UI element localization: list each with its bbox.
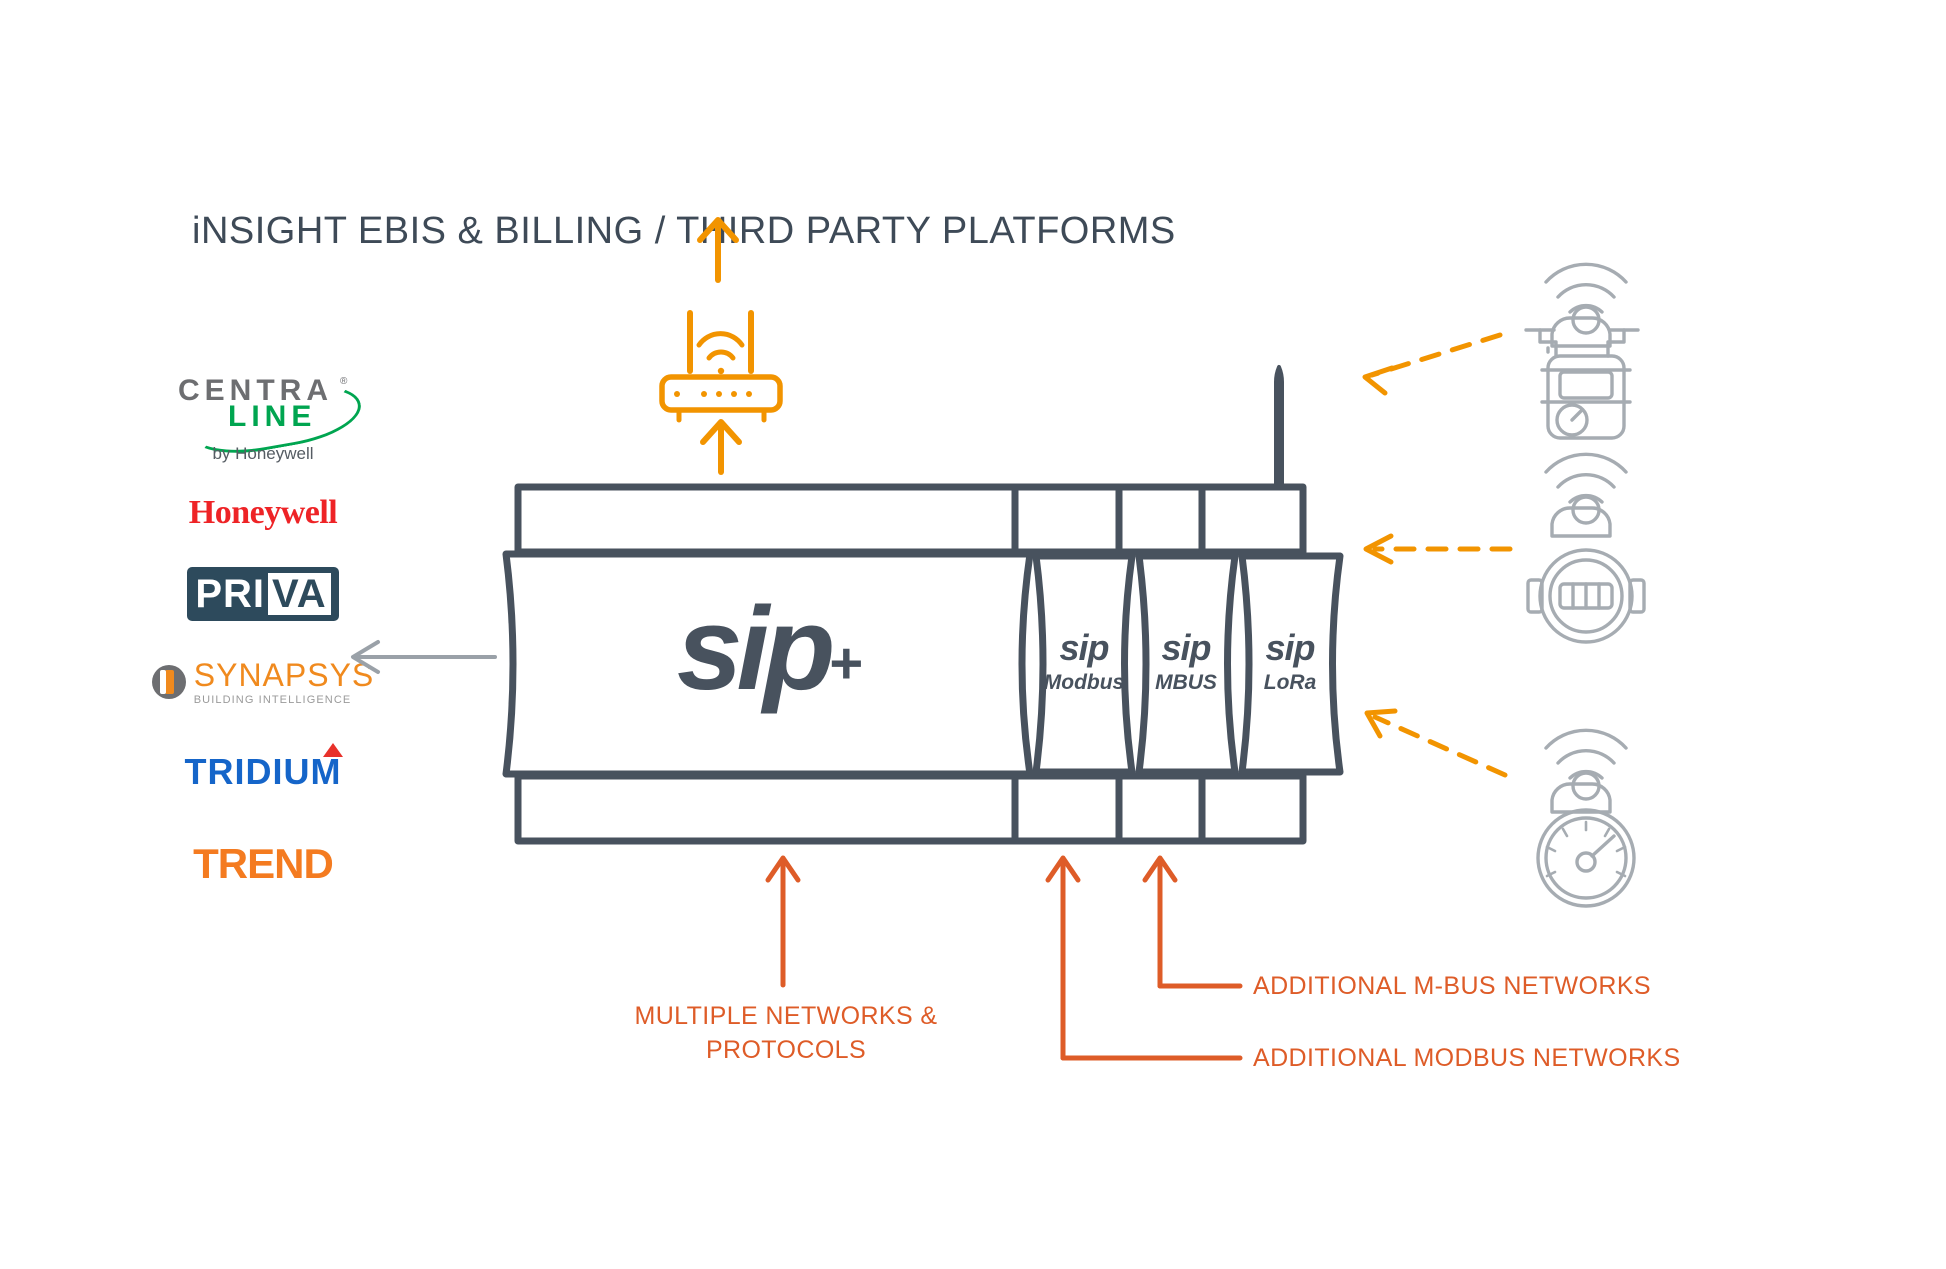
- sip-plus-logo-suffix: +: [829, 631, 863, 696]
- module-modbus-brand: sip: [1032, 630, 1136, 666]
- annotation-additional-mbus: ADDITIONAL M-BUS NETWORKS: [1253, 972, 1651, 1001]
- module-mbus-protocol: MBUS: [1136, 672, 1236, 693]
- annotation-multiple-networks-line2: PROTOCOLS: [596, 1034, 976, 1068]
- annotation-multiple-networks: MULTIPLE NETWORKS & PROTOCOLS: [596, 1000, 976, 1068]
- sip-plus-logo: sip+: [600, 590, 940, 708]
- module-modbus-protocol: Modbus: [1032, 672, 1136, 693]
- module-label-modbus: sip Modbus: [1032, 630, 1136, 693]
- mbus-networks-arrow: [1145, 858, 1240, 986]
- device-bottom-rail: [518, 776, 1303, 841]
- device-top-rail: [518, 487, 1303, 552]
- platforms-arrow: [353, 642, 495, 672]
- wireless-signal-icon: [1546, 264, 1626, 312]
- meter-link-top-head: [1365, 368, 1392, 393]
- sip-plus-logo-text: sip: [677, 583, 830, 715]
- multiple-networks-arrow: [768, 858, 798, 985]
- wireless-router-icon: [662, 220, 780, 472]
- module-lora-protocol: LoRa: [1240, 672, 1340, 693]
- meter-link-bottom: [1375, 717, 1505, 775]
- annotation-additional-modbus: ADDITIONAL MODBUS NETWORKS: [1253, 1044, 1681, 1073]
- diagram-canvas: iNSIGHT EBIS & BILLING / THIRD PARTY PLA…: [0, 0, 1946, 1269]
- diagram-vector-layer: [0, 0, 1946, 1269]
- gateway-downlink-arrow: [703, 422, 739, 472]
- module-mbus-brand: sip: [1136, 630, 1236, 666]
- gateway-uplink-arrow: [700, 220, 736, 280]
- wireless-signal-icon: [1546, 454, 1626, 502]
- module-lora-brand: sip: [1240, 630, 1340, 666]
- water-meter-icon: [1538, 730, 1634, 906]
- wireless-signal-icon: [1546, 730, 1626, 778]
- module-label-mbus: sip MBUS: [1136, 630, 1236, 693]
- electric-meter-icon: [1528, 454, 1644, 642]
- module-label-lora: sip LoRa: [1240, 630, 1340, 693]
- modbus-networks-arrow: [1048, 858, 1240, 1058]
- annotation-multiple-networks-line1: MULTIPLE NETWORKS &: [596, 1000, 976, 1034]
- antenna-icon: [1276, 367, 1282, 487]
- gas-meter-icon: [1526, 264, 1638, 438]
- meter-link-bottom-head: [1367, 711, 1395, 736]
